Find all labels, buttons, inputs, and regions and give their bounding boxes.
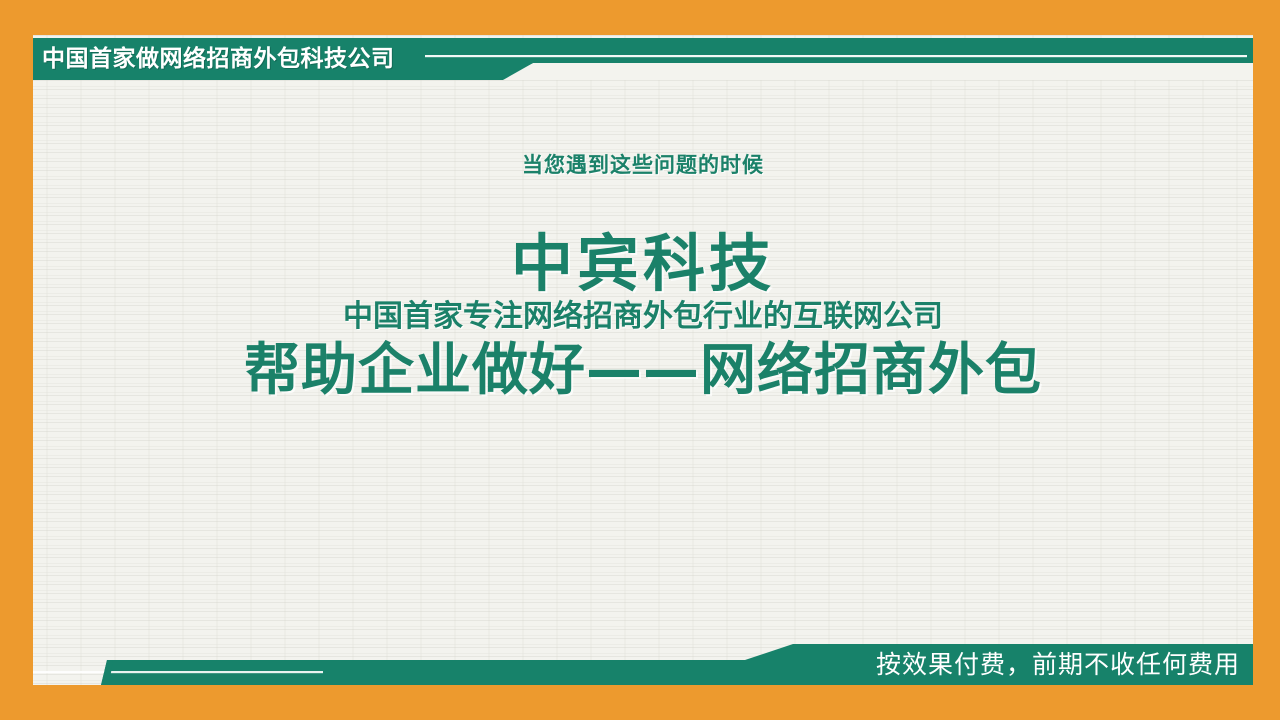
slide-canvas: 中国首家做网络招商外包科技公司 当您遇到这些问题的时候 中宾科技 中国首家专注网… <box>0 0 1280 720</box>
brand-name: 中宾科技 <box>33 230 1253 298</box>
headline-text: 帮助企业做好——网络招商外包 <box>33 338 1253 404</box>
main-content: 当您遇到这些问题的时候 中宾科技 中国首家专注网络招商外包行业的互联网公司 帮助… <box>33 150 1253 404</box>
tagline-text: 中国首家专注网络招商外包行业的互联网公司 <box>33 298 1253 336</box>
header-title: 中国首家做网络招商外包科技公司 <box>42 44 502 74</box>
footer-text: 按效果付费，前期不收任何费用 <box>876 649 1240 681</box>
kicker-text: 当您遇到这些问题的时候 <box>33 150 1253 180</box>
